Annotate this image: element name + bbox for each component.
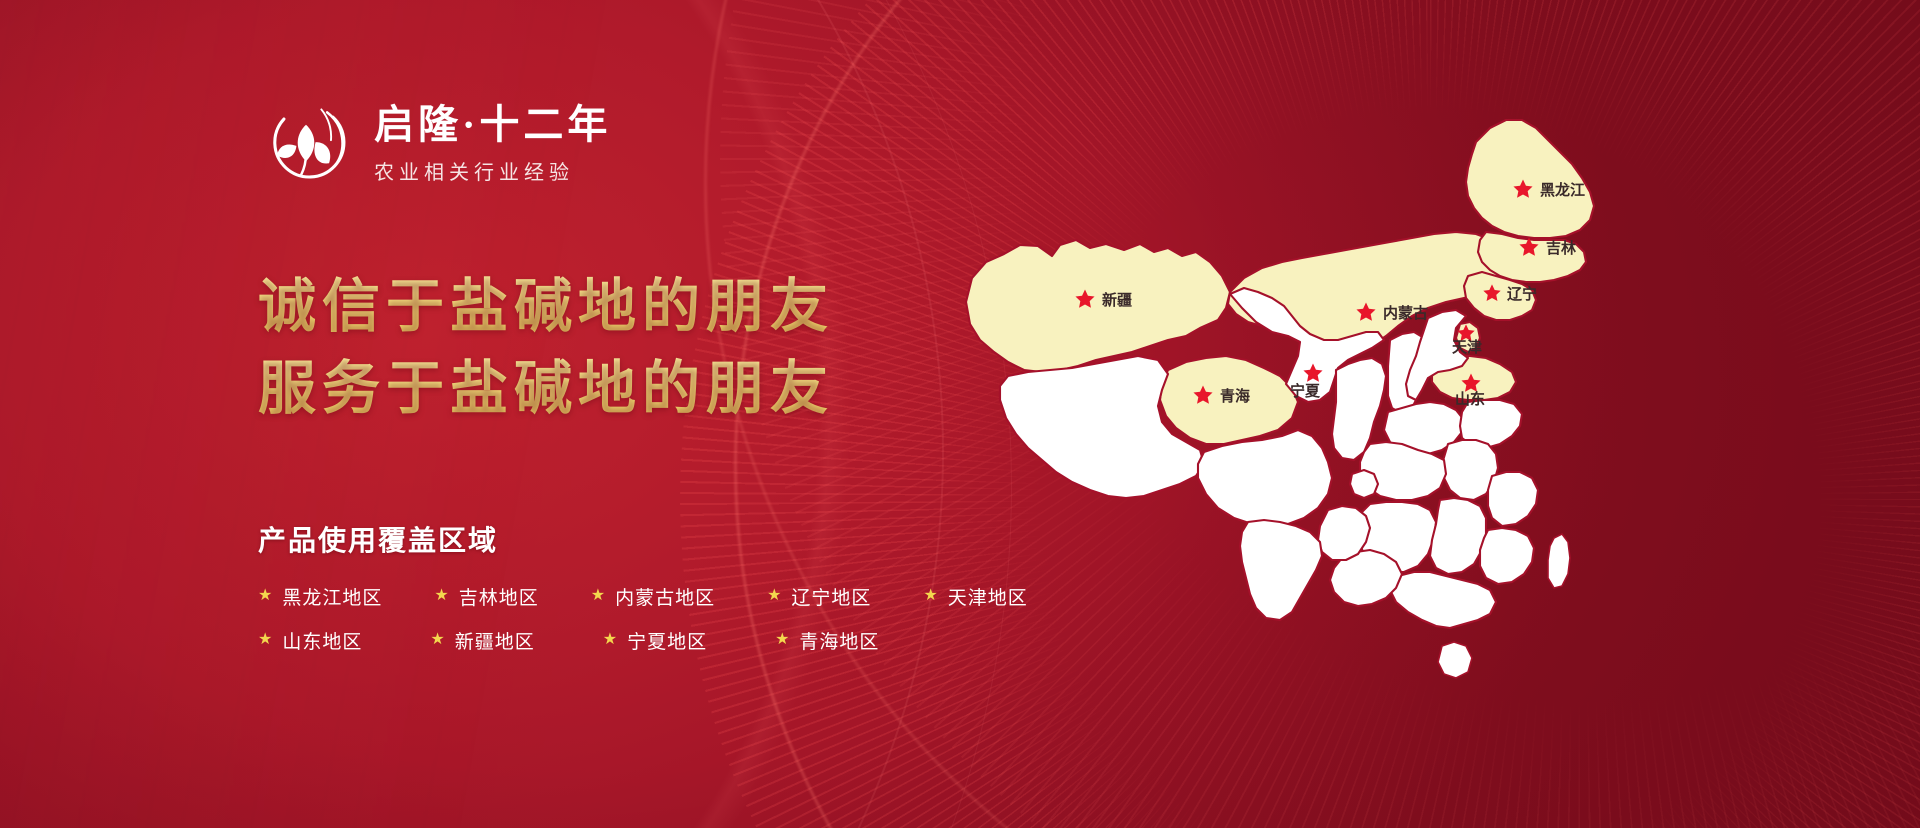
coverage-region-label: 新疆地区	[455, 627, 535, 654]
coverage-region-item: ★ 吉林地区	[434, 583, 538, 610]
brand-text: 启隆·十二年 农业相关行业经验	[374, 103, 611, 185]
star-icon: ★	[434, 588, 449, 604]
star-icon: ★	[775, 632, 790, 648]
coverage-region-label: 青海地区	[799, 627, 879, 654]
map-label: 新疆	[1102, 291, 1132, 309]
brand-tagline: 农业相关行业经验	[374, 156, 611, 185]
map-label: 吉林	[1546, 239, 1577, 257]
coverage-region-label: 内蒙古地区	[615, 583, 715, 610]
headline-line-2: 服务于盐碱地的朋友	[258, 348, 1018, 430]
coverage-region-item: ★ 青海地区	[775, 627, 879, 654]
coverage-title: 产品使用覆盖区域	[258, 519, 1018, 559]
star-icon: ★	[767, 588, 782, 604]
headline-line-1: 诚信于盐碱地的朋友	[258, 266, 1018, 348]
coverage-region-item: ★ 山东地区	[258, 627, 362, 654]
headline-block: 诚信于盐碱地的朋友 服务于盐碱地的朋友	[258, 266, 1018, 431]
brand-lockup: 启隆·十二年 农业相关行业经验	[258, 96, 1018, 192]
coverage-region-row: ★ 山东地区 ★ 新疆地区 ★ 宁夏地区 ★ 青海地区	[258, 627, 1018, 654]
star-icon: ★	[923, 588, 938, 604]
map-label: 内蒙古	[1383, 304, 1428, 322]
lotus-leaf-circle-icon	[258, 96, 354, 192]
coverage-region-item: ★ 内蒙古地区	[591, 583, 715, 610]
map-label: 黑龙江	[1540, 181, 1585, 199]
coverage-region-label: 宁夏地区	[627, 627, 707, 654]
star-icon: ★	[591, 588, 606, 604]
coverage-region-label: 天津地区	[948, 583, 1028, 610]
star-icon: ★	[603, 632, 618, 648]
coverage-region-item: ★ 黑龙江地区	[258, 583, 382, 610]
brand-name: 启隆·十二年	[374, 103, 611, 147]
coverage-region-item: ★ 宁夏地区	[603, 627, 707, 654]
star-icon: ★	[258, 588, 273, 604]
star-icon: ★	[258, 632, 273, 648]
coverage-region-item: ★ 新疆地区	[430, 627, 534, 654]
coverage-region-item: ★ 天津地区	[923, 583, 1027, 610]
map-label: 宁夏	[1290, 382, 1321, 400]
map-label: 青海	[1220, 387, 1250, 405]
coverage-region-row: ★ 黑龙江地区 ★ 吉林地区 ★ 内蒙古地区 ★ 辽宁地区 ★ 天津地区	[258, 583, 1018, 610]
coverage-region-item: ★ 辽宁地区	[767, 583, 871, 610]
map-label: 山东	[1455, 390, 1485, 408]
coverage-region-label: 山东地区	[282, 627, 362, 654]
coverage-region-list: ★ 黑龙江地区 ★ 吉林地区 ★ 内蒙古地区 ★ 辽宁地区 ★ 天津地区	[258, 583, 1018, 654]
china-coverage-map: 黑龙江 吉林 辽宁 内蒙古 天津 山东 宁夏 新疆 青海	[900, 40, 1700, 800]
star-icon: ★	[430, 632, 445, 648]
banner-stage: 启隆·十二年 农业相关行业经验 诚信于盐碱地的朋友 服务于盐碱地的朋友 产品使用…	[0, 0, 1920, 828]
left-content: 启隆·十二年 农业相关行业经验 诚信于盐碱地的朋友 服务于盐碱地的朋友 产品使用…	[258, 96, 1018, 671]
coverage-region-label: 辽宁地区	[791, 583, 871, 610]
coverage-region-label: 吉林地区	[459, 583, 539, 610]
map-label: 天津	[1452, 338, 1482, 356]
map-label: 辽宁	[1507, 285, 1537, 303]
coverage-region-label: 黑龙江地区	[282, 583, 382, 610]
